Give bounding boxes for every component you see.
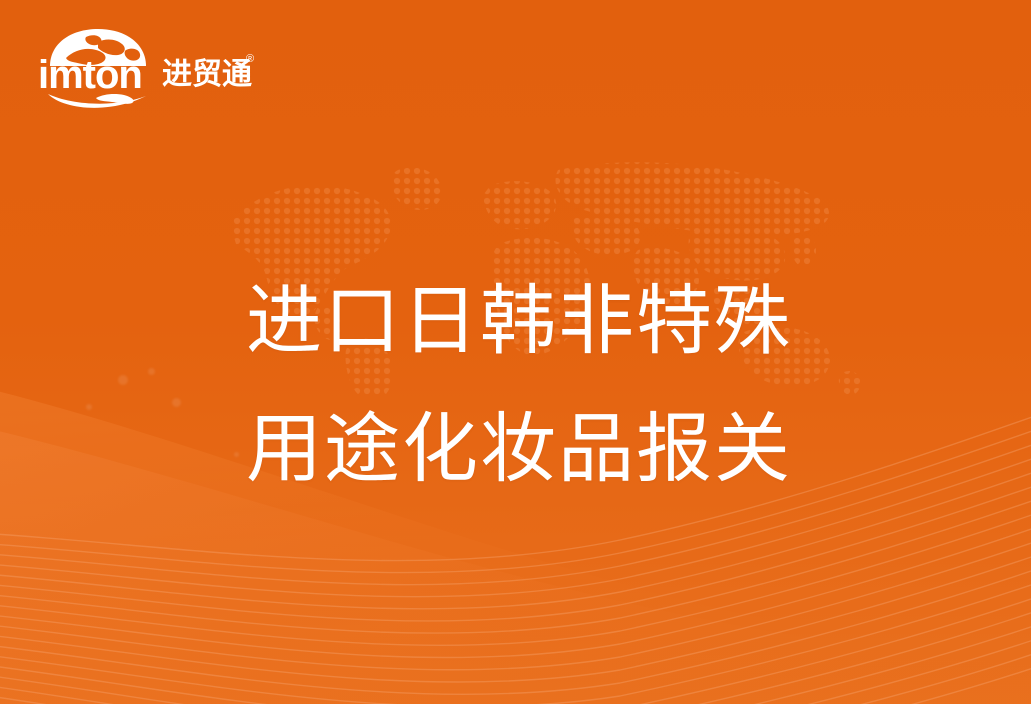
- promo-banner: imton 进贸通 ® 进口日韩非特殊 用途化妆品报关: [0, 0, 1031, 704]
- headline-line-2: 用途化妆品报关: [246, 386, 806, 514]
- brand-logo[interactable]: imton 进贸通 ®: [40, 26, 250, 110]
- globe-swoosh-icon: imton: [40, 26, 160, 110]
- registered-mark: ®: [246, 54, 254, 65]
- svg-text:imton: imton: [40, 53, 142, 97]
- headline: 进口日韩非特殊 用途化妆品报关: [246, 258, 806, 514]
- logo-chinese-name: 进贸通: [162, 60, 252, 90]
- headline-line-1: 进口日韩非特殊: [246, 258, 806, 386]
